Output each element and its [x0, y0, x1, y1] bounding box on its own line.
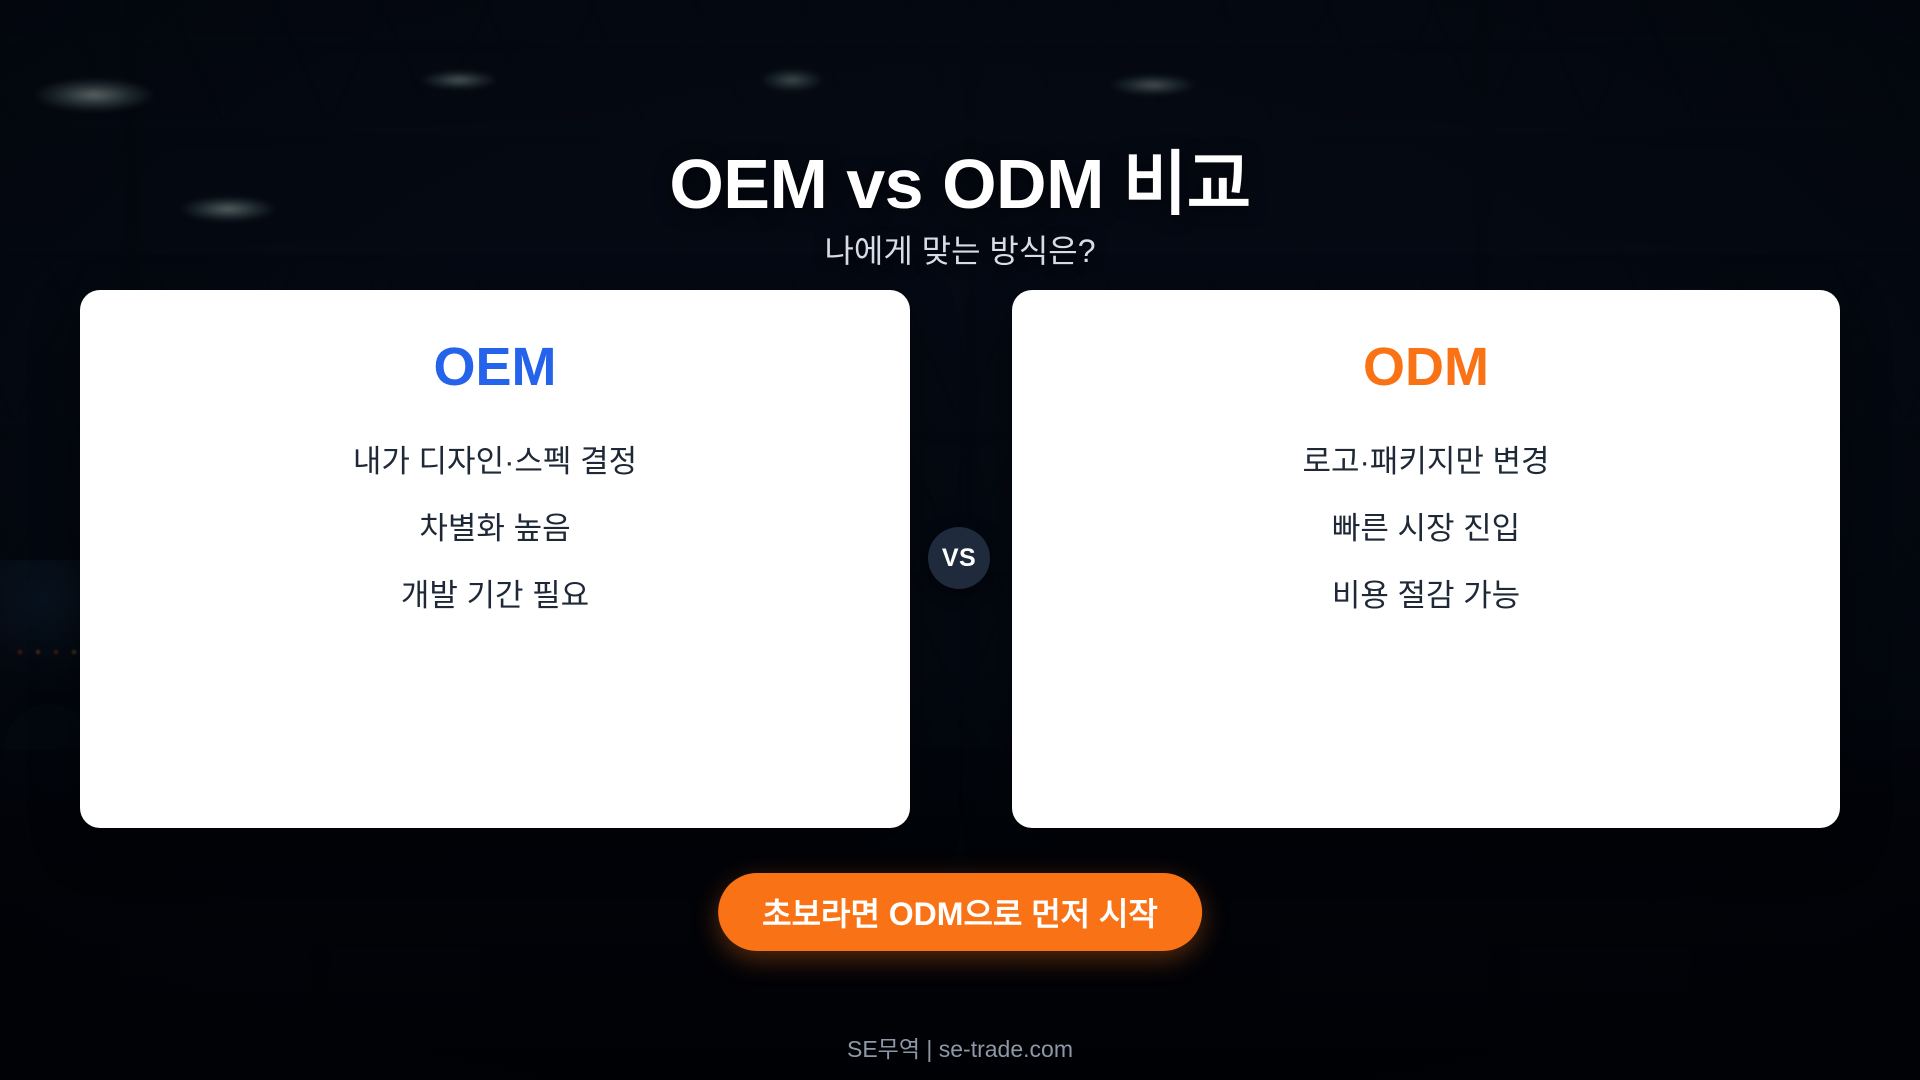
- feature-list-oem: 내가 디자인·스펙 결정 차별화 높음 개발 기간 필요: [80, 429, 910, 629]
- feature-item: 내가 디자인·스펙 결정: [80, 429, 910, 496]
- slide-canvas: OEM vs ODM 비교 나에게 맞는 방식은? OEM 내가 디자인·스펙 …: [0, 0, 1920, 1080]
- card-title-oem: OEM: [80, 338, 910, 397]
- footer-brand-and-site: SE무역 | se-trade.com: [0, 1030, 1920, 1064]
- feature-item: 비용 절감 가능: [1012, 563, 1840, 630]
- feature-item: 로고·패키지만 변경: [1012, 429, 1840, 496]
- page-title: OEM vs ODM 비교: [0, 128, 1920, 229]
- feature-item: 개발 기간 필요: [80, 563, 910, 630]
- cta-button-start-with-odm[interactable]: 초보라면 ODM으로 먼저 시작: [718, 873, 1202, 951]
- page-subtitle: 나에게 맞는 방식은?: [0, 226, 1920, 272]
- vs-divider-badge: VS: [928, 527, 990, 589]
- comparison-card-odm: ODM 로고·패키지만 변경 빠른 시장 진입 비용 절감 가능: [1012, 290, 1840, 828]
- feature-item: 차별화 높음: [80, 496, 910, 563]
- comparison-card-oem: OEM 내가 디자인·스펙 결정 차별화 높음 개발 기간 필요: [80, 290, 910, 828]
- slide-content: OEM vs ODM 비교 나에게 맞는 방식은? OEM 내가 디자인·스펙 …: [0, 0, 1920, 1080]
- card-title-odm: ODM: [1012, 338, 1840, 397]
- feature-list-odm: 로고·패키지만 변경 빠른 시장 진입 비용 절감 가능: [1012, 429, 1840, 629]
- feature-item: 빠른 시장 진입: [1012, 496, 1840, 563]
